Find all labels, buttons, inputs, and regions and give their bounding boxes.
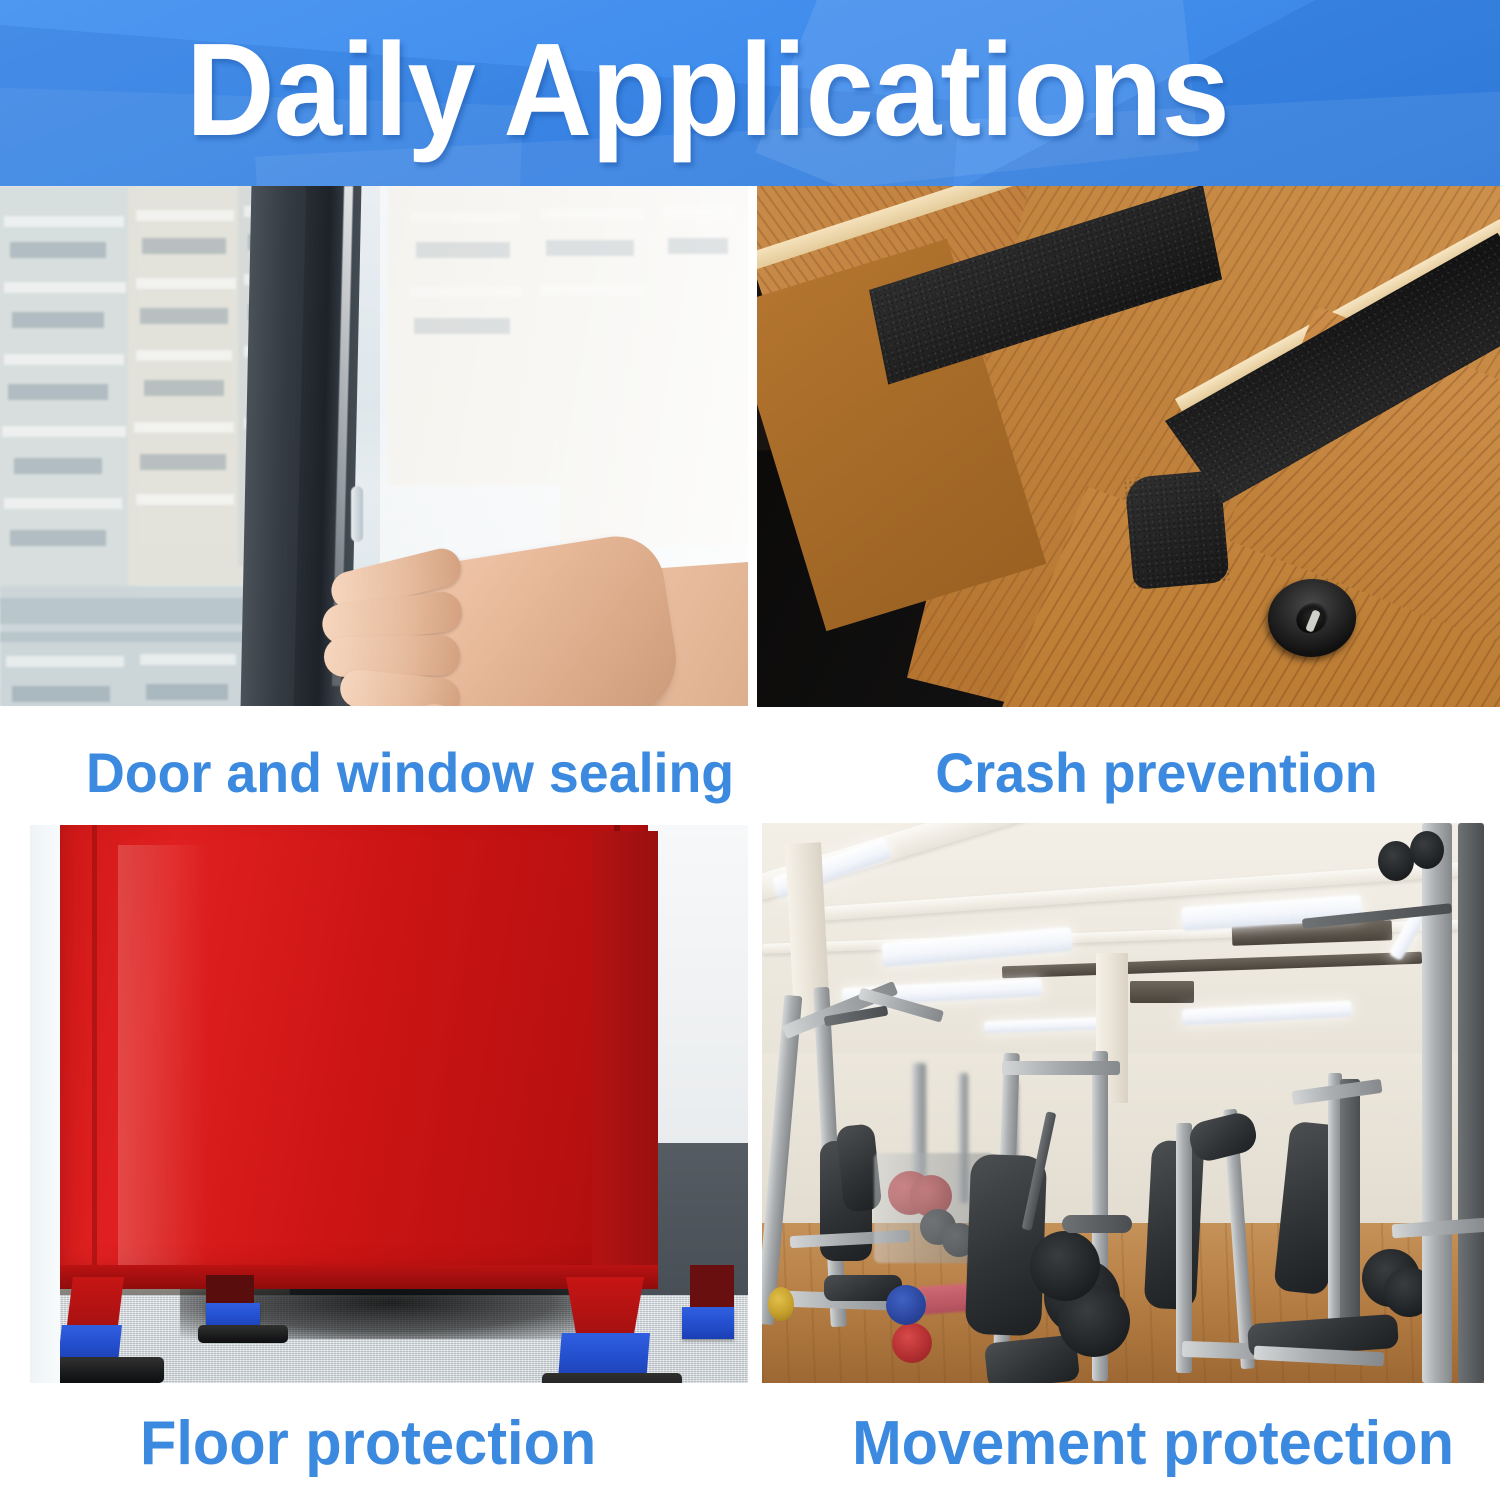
machine-right-upright-1 [1176,1123,1192,1373]
blue-riser-front-left [58,1325,122,1361]
weight-stack-disc-3 [1030,1231,1100,1301]
caption-floor-protection: Floor protection [140,1408,596,1479]
photo-movement-protection [762,823,1484,1383]
cabinet-side-panel [592,831,658,1286]
cabinet-leg-front-right [566,1277,644,1339]
machine-center-top-bar [1002,1061,1120,1075]
weight-plate-yellow-1 [768,1287,794,1321]
cabinet-highlight [118,845,208,1275]
foreground-rack-column-2 [1458,823,1484,1383]
caption-crash-prevention: Crash prevention [936,740,1378,805]
weight-plate-blue-1 [886,1285,926,1325]
photo-floor-protection [30,825,748,1383]
finger-ring [324,635,461,677]
ceiling-vent [1130,981,1194,1003]
foreground-pulley-2 [1410,831,1444,869]
hand-pressing-seal [318,516,748,706]
weight-plate-red-3 [892,1323,932,1363]
infographic-page: Daily Applications [0,0,1500,1500]
photo-left-edge [30,825,60,1383]
barbell-sleeve [1062,1215,1132,1233]
cabinet-leg-front-left [66,1277,124,1333]
machine-far-right-weight-column [1340,1079,1360,1329]
foreground-pulley-1 [1378,841,1414,881]
photo-crash-prevention [757,186,1500,707]
cabinet-left-seam [92,825,97,1287]
black-pad-front-right [542,1373,682,1383]
header-banner: Daily Applications [0,0,1500,186]
blue-riser-back-right [682,1307,734,1339]
black-pad-front-left [42,1357,164,1383]
black-pad-back-left [198,1325,288,1343]
red-cabinet [58,825,648,1287]
cabinet-leg-back-right [690,1265,734,1309]
caption-movement-protection: Movement protection [852,1408,1454,1479]
page-title: Daily Applications [186,16,1229,164]
photo-door-window-sealing [0,186,748,706]
caption-door-window-sealing: Door and window sealing [86,740,734,805]
machine-right-back-pad [1144,1140,1205,1310]
